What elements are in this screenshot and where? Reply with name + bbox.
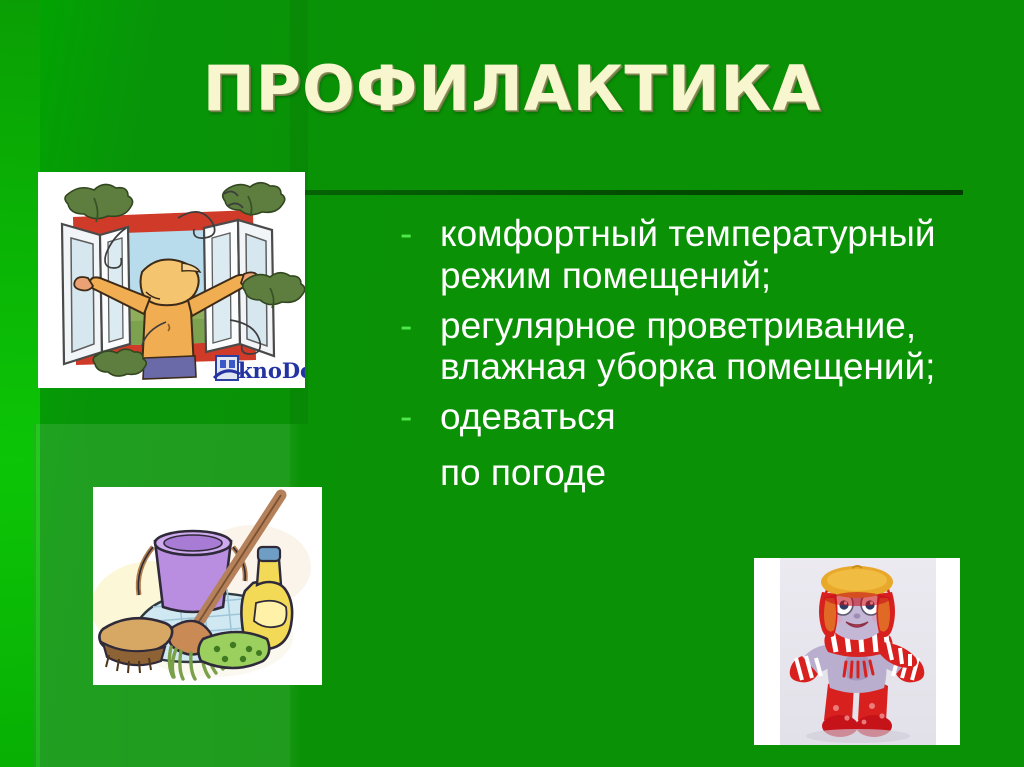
winter-dressed-doll-photo (754, 558, 960, 745)
bullet-dash-icon: - (400, 213, 412, 255)
open-window-illustration: knoDoma (38, 172, 305, 388)
list-item: - одеваться по погоде (398, 396, 998, 494)
bullet-dash-icon: - (400, 396, 412, 438)
cleaning-supplies-illustration (93, 487, 322, 685)
bullet-list: - комфортный температурный режим помещен… (398, 213, 998, 502)
list-item: - комфортный температурный режим помещен… (398, 213, 998, 297)
list-item-text: одеваться (440, 396, 998, 438)
page-title: ПРОФИЛАКТИКА (0, 58, 1024, 120)
list-item: - регулярное проветривание, влажная убор… (398, 305, 998, 389)
bullet-dash-icon: - (400, 305, 412, 347)
slide: ПРОФИЛАКТИКА - комфортный температурный … (0, 0, 1024, 767)
title-divider (305, 190, 963, 195)
list-item-text: комфортный температурный режим помещений… (440, 213, 998, 297)
svg-text:knoDoma: knoDoma (238, 358, 305, 383)
list-item-text: регулярное проветривание, влажная уборка… (440, 305, 998, 389)
list-item-text-continued: по погоде (440, 452, 998, 494)
